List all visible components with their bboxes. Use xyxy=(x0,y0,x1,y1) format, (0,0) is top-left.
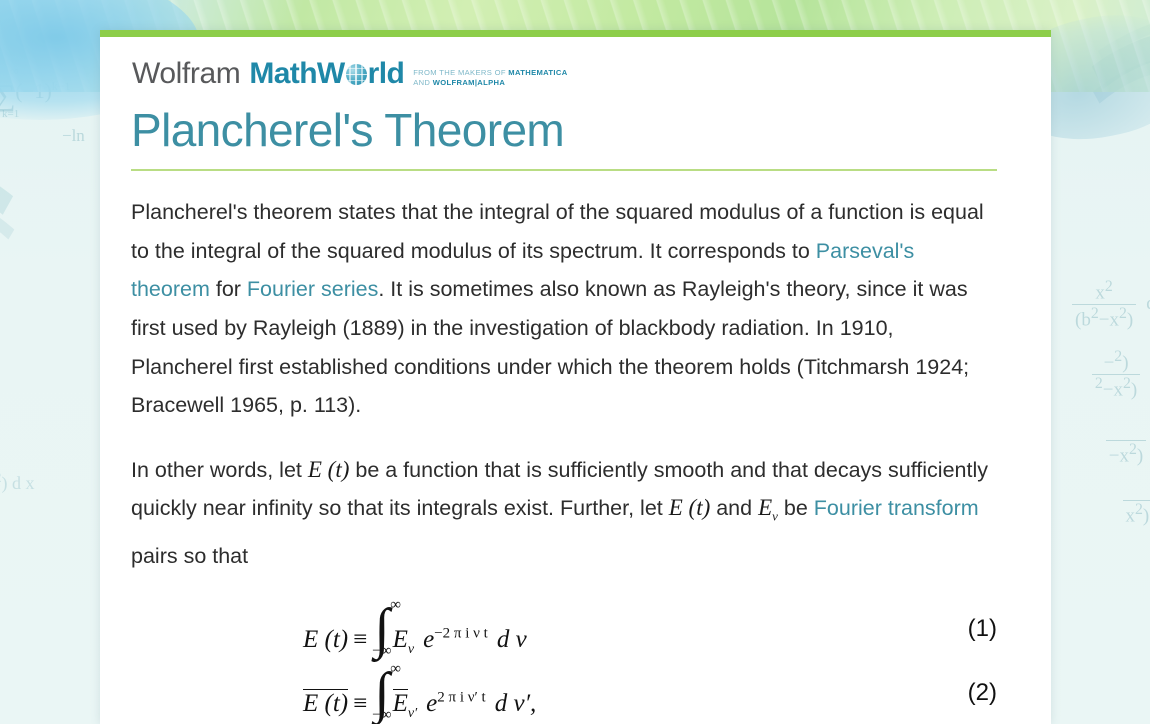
title-divider xyxy=(131,169,997,171)
background-formula-right-4: x2)d x xyxy=(1123,478,1150,527)
equation-1-number: (1) xyxy=(968,615,997,643)
equation-1-exp-sup: −2 π i ν t xyxy=(434,626,488,642)
tagline-line2: AND WOLFRAM|ALPHA xyxy=(413,78,505,87)
paragraph-2: In other words, let E (t) be a function … xyxy=(131,451,997,575)
logo-world-w: W xyxy=(317,59,345,89)
logo-world-rld: rld xyxy=(368,59,405,89)
inline-math-E-of-t-2: E (t) xyxy=(669,495,711,520)
equation-1-integrand-base: E xyxy=(393,626,408,653)
equation-2-upper-limit: ∞ xyxy=(390,661,401,678)
equation-2-integrand-base: E xyxy=(393,689,408,717)
equation-2-differential: d ν′, xyxy=(495,690,537,717)
page-root: ∑(−1)k−1 −ln k=1 ∞ x2(b2−x2)d x −2)2−x2)… xyxy=(0,0,1150,724)
inline-math-E-of-t-1: E (t) xyxy=(308,457,350,482)
logo-wolfram-text: Wolfram xyxy=(132,59,240,89)
link-fourier-series[interactable]: Fourier series xyxy=(247,277,378,301)
equation-2-exp-base: e xyxy=(426,690,437,717)
paragraph-2-seg-5: pairs so that xyxy=(131,544,248,568)
equation-2-number: (2) xyxy=(968,679,997,707)
paragraph-2-seg-1: In other words, let xyxy=(131,458,308,482)
paragraph-1-seg-2: for xyxy=(210,277,247,301)
equation-2-lower-limit: −∞ xyxy=(372,707,391,724)
paragraph-1: Plancherel's theorem states that the int… xyxy=(131,193,997,425)
tagline-line1: FROM THE MAKERS OF MATHEMATICA xyxy=(413,68,567,77)
paragraph-2-seg-4: be xyxy=(778,496,814,520)
equation-1-integrand-sub: ν xyxy=(408,642,414,657)
equation-1-lower-limit: −∞ xyxy=(372,643,391,660)
site-logo[interactable]: Wolfram MathWrld FROM THE MAKERS OF MATH… xyxy=(131,59,997,89)
equation-2-relation: ≡ xyxy=(353,690,367,717)
background-formula-left-2: −ln xyxy=(62,126,85,146)
equation-1-body: E (t)≡∞∫−∞Eνe−2 π i ν td ν xyxy=(303,600,527,658)
equation-2-integrand-sub: ν′ xyxy=(408,706,417,721)
integral-sign-2: ∞∫−∞ xyxy=(374,664,389,722)
background-formula-right-1: x2(b2−x2)d x xyxy=(1072,278,1150,332)
equation-1-differential: d ν xyxy=(497,626,527,653)
integral-sign-1: ∞∫−∞ xyxy=(374,600,389,658)
equation-2-body: E (t)≡∞∫−∞Eν′e2 π i ν′ td ν′, xyxy=(303,664,536,722)
globe-icon xyxy=(346,64,367,85)
equation-1-exp-base: e xyxy=(423,626,434,653)
background-formula-right-2: −2)2−x2)d x xyxy=(1092,348,1150,402)
logo-math-text: Math xyxy=(249,59,317,89)
background-formula-right-3: −x2)d x xyxy=(1106,418,1150,467)
inline-math-E-nu: Eν xyxy=(758,495,778,520)
logo-mathworld-text: MathWrld xyxy=(249,59,404,89)
equation-1-upper-limit: ∞ xyxy=(390,597,401,614)
equation-block: E (t)≡∞∫−∞Eνe−2 π i ν td ν (1) E (t)≡∞∫−… xyxy=(131,597,997,724)
link-fourier-transform[interactable]: Fourier transform xyxy=(814,496,979,520)
logo-tagline: FROM THE MAKERS OF MATHEMATICA AND WOLFR… xyxy=(413,59,567,87)
equation-1-lhs: E (t) xyxy=(303,626,348,653)
content-card: Wolfram MathWrld FROM THE MAKERS OF MATH… xyxy=(100,30,1051,724)
paragraph-2-seg-3: and xyxy=(710,496,758,520)
equation-row-1: E (t)≡∞∫−∞Eνe−2 π i ν td ν (1) xyxy=(131,597,997,661)
page-title: Plancherel's Theorem xyxy=(131,103,997,157)
equation-2-lhs: E (t) xyxy=(303,689,348,717)
background-formula-left-3: a2) d x xyxy=(0,470,35,494)
equation-1-relation: ≡ xyxy=(353,626,367,653)
equation-row-2: E (t)≡∞∫−∞Eν′e2 π i ν′ td ν′, (2) xyxy=(131,661,997,724)
equation-2-exp-sup: 2 π i ν′ t xyxy=(437,690,485,706)
